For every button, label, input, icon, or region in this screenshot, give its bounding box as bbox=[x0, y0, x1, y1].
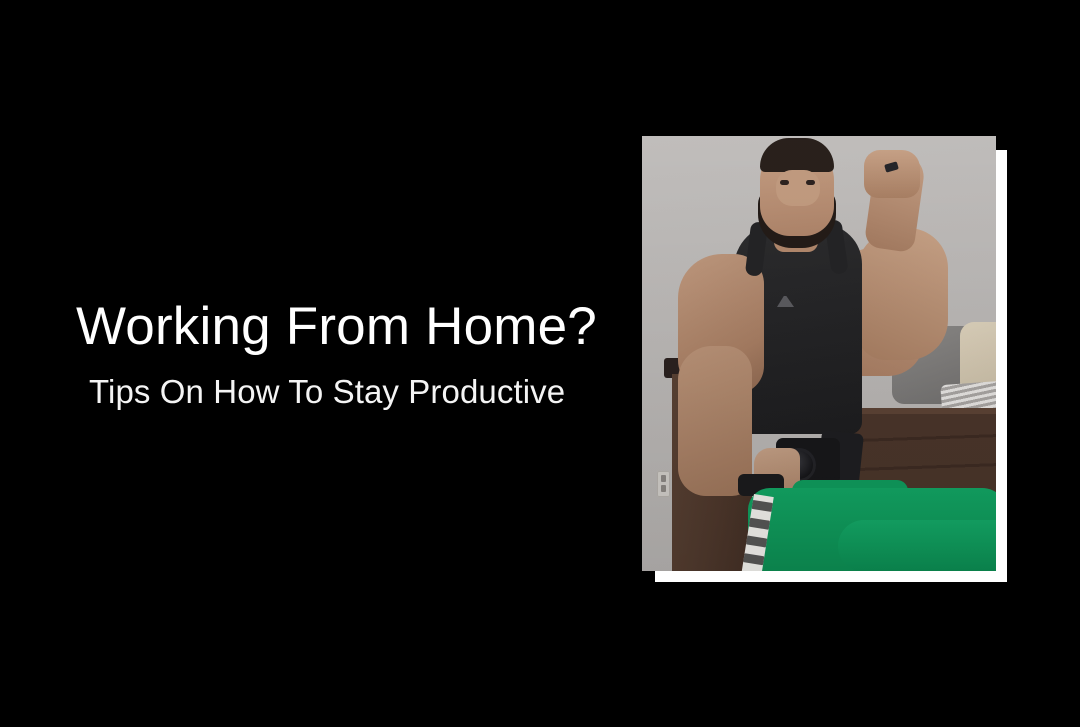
eye-right bbox=[806, 180, 815, 185]
stripe-mark bbox=[746, 535, 767, 547]
page-subtitle: Tips On How To Stay Productive bbox=[89, 375, 620, 408]
banner-text-block: Working From Home? Tips On How To Stay P… bbox=[0, 300, 620, 408]
face bbox=[776, 170, 820, 206]
banner-canvas: Working From Home? Tips On How To Stay P… bbox=[0, 0, 1080, 727]
hero-photo bbox=[642, 136, 996, 571]
eye-left bbox=[780, 180, 789, 185]
joggers-leg bbox=[838, 520, 996, 571]
clenched-fist bbox=[864, 150, 920, 198]
page-title: Working From Home? bbox=[76, 300, 620, 353]
stripe-mark bbox=[752, 500, 773, 512]
wall-outlet-icon bbox=[657, 471, 670, 497]
stripe-mark bbox=[743, 553, 764, 565]
photo-scene bbox=[642, 136, 996, 571]
hero-photo-wrapper bbox=[642, 136, 1007, 582]
stripe-mark bbox=[749, 518, 770, 530]
